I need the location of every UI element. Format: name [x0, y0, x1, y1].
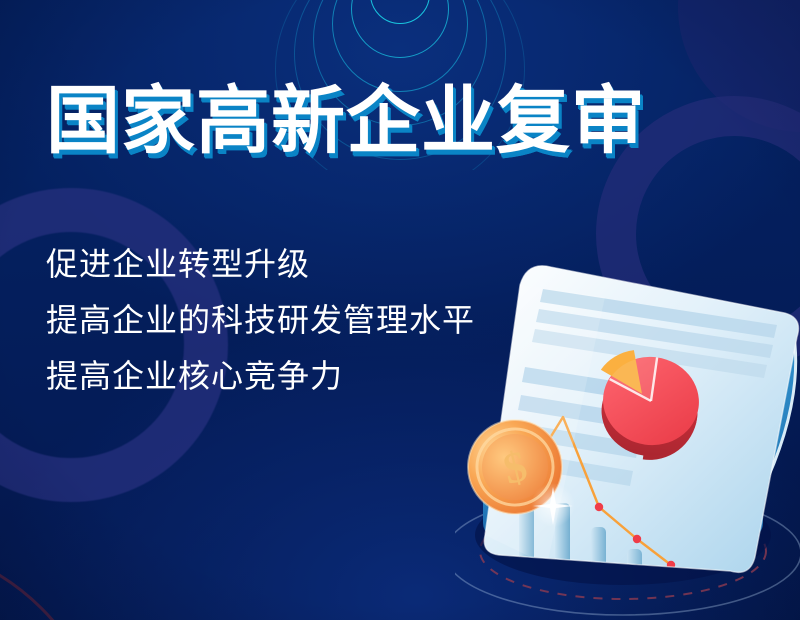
illustration-report-document: $ [455, 205, 800, 620]
bullet-item-3: 提高企业核心竞争力 [46, 348, 475, 404]
page-title: 国家高新企业复审 [46, 84, 646, 158]
poster-root: 国家高新企业复审 促进企业转型升级 提高企业的科技研发管理水平 提高企业核心竞争… [0, 0, 800, 620]
bullet-list: 促进企业转型升级 提高企业的科技研发管理水平 提高企业核心竞争力 [46, 236, 475, 404]
bullet-item-2: 提高企业的科技研发管理水平 [46, 292, 475, 348]
bullet-item-1: 促进企业转型升级 [46, 236, 475, 292]
